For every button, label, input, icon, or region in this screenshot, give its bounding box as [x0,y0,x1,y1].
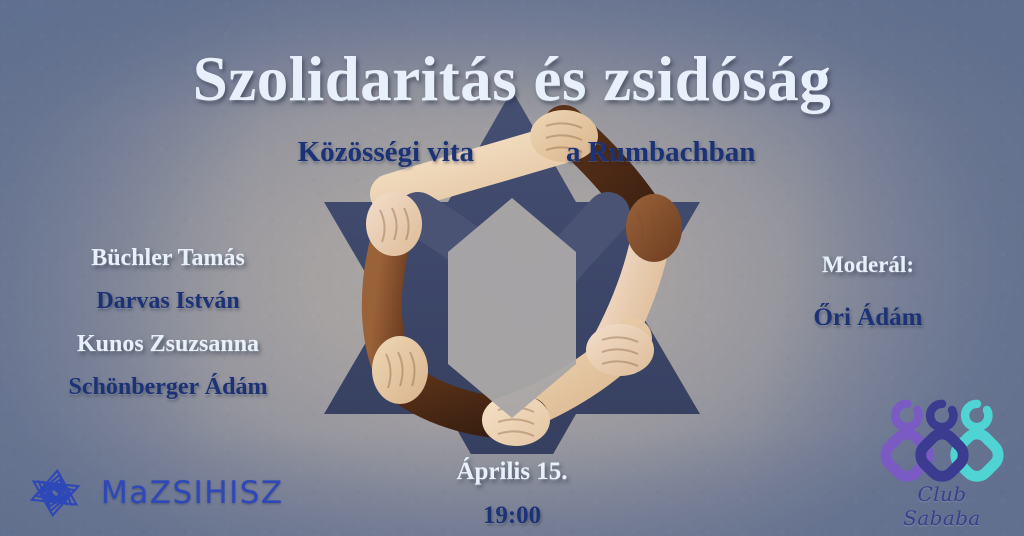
pinwheel-star-of-david-icon [22,460,88,526]
subtitle: Közösségi vitaa Rumbachban [0,103,1024,202]
mazsihisz-logo: MaZSIHISZ [22,460,284,526]
club-sababa-logo: Club Sababa [876,393,1008,530]
speaker-list: Büchler Tamás Darvas István Kunos Zsuzsa… [8,246,328,401]
event-poster: Szolidaritás és zsidóság Közösségi vitaa… [0,0,1024,536]
moderator-name: Őri Ádám [718,304,1018,332]
subtitle-right: a Rumbachban [566,136,755,168]
three-linked-figures-icon [876,393,1008,486]
speaker-name: Schönberger Ádám [8,375,328,401]
speaker-name: Büchler Tamás [8,246,328,272]
speaker-name: Darvas István [8,289,328,315]
club-sababa-wordmark: Club Sababa [876,482,1008,530]
moderator-block: Moderál: Őri Ádám [718,252,1018,332]
moderator-label: Moderál: [718,252,1018,278]
mazsihisz-wordmark: MaZSIHISZ [101,475,284,511]
subtitle-left: Közösségi vita [298,136,474,168]
speaker-name: Kunos Zsuzsanna [8,332,328,358]
